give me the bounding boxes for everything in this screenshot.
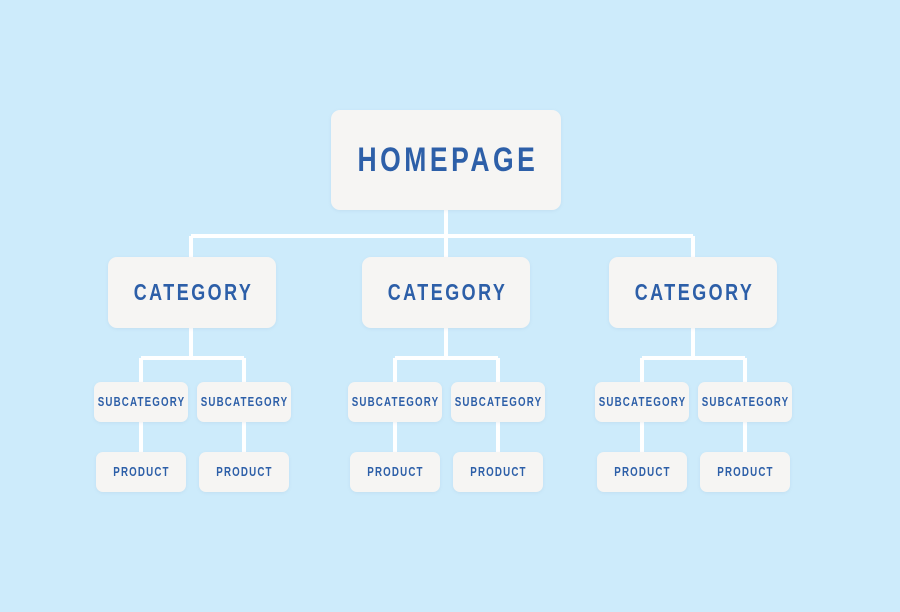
node-label-root: HOMEPAGE <box>354 141 538 180</box>
node-label-prod-1a: PRODUCT <box>112 465 170 479</box>
node-sub-1b[interactable]: SUBCATEGORY <box>197 382 291 422</box>
node-sub-3b[interactable]: SUBCATEGORY <box>698 382 792 422</box>
sitemap-diagram: HOMEPAGECATEGORYCATEGORYCATEGORYSUBCATEG… <box>0 0 900 612</box>
node-sub-2b[interactable]: SUBCATEGORY <box>451 382 545 422</box>
node-cat-2[interactable]: CATEGORY <box>362 257 530 328</box>
node-prod-1a[interactable]: PRODUCT <box>96 452 186 492</box>
node-label-prod-1b: PRODUCT <box>215 465 273 479</box>
node-cat-3[interactable]: CATEGORY <box>609 257 777 328</box>
node-layer: HOMEPAGECATEGORYCATEGORYCATEGORYSUBCATEG… <box>0 0 900 612</box>
node-prod-2b[interactable]: PRODUCT <box>453 452 543 492</box>
node-label-prod-3b: PRODUCT <box>716 465 774 479</box>
node-label-prod-2a: PRODUCT <box>366 465 424 479</box>
node-label-sub-3b: SUBCATEGORY <box>701 395 790 409</box>
node-label-cat-1: CATEGORY <box>131 279 253 306</box>
node-label-sub-2b: SUBCATEGORY <box>454 395 543 409</box>
node-label-cat-2: CATEGORY <box>385 279 507 306</box>
node-prod-3b[interactable]: PRODUCT <box>700 452 790 492</box>
node-root[interactable]: HOMEPAGE <box>331 110 561 210</box>
node-label-prod-2b: PRODUCT <box>469 465 527 479</box>
node-prod-2a[interactable]: PRODUCT <box>350 452 440 492</box>
node-label-sub-1b: SUBCATEGORY <box>200 395 289 409</box>
node-prod-1b[interactable]: PRODUCT <box>199 452 289 492</box>
node-label-sub-1a: SUBCATEGORY <box>97 395 186 409</box>
node-label-sub-2a: SUBCATEGORY <box>351 395 440 409</box>
node-label-sub-3a: SUBCATEGORY <box>598 395 687 409</box>
node-sub-3a[interactable]: SUBCATEGORY <box>595 382 689 422</box>
node-label-prod-3a: PRODUCT <box>613 465 671 479</box>
node-sub-1a[interactable]: SUBCATEGORY <box>94 382 188 422</box>
node-label-cat-3: CATEGORY <box>632 279 754 306</box>
node-sub-2a[interactable]: SUBCATEGORY <box>348 382 442 422</box>
node-cat-1[interactable]: CATEGORY <box>108 257 276 328</box>
node-prod-3a[interactable]: PRODUCT <box>597 452 687 492</box>
